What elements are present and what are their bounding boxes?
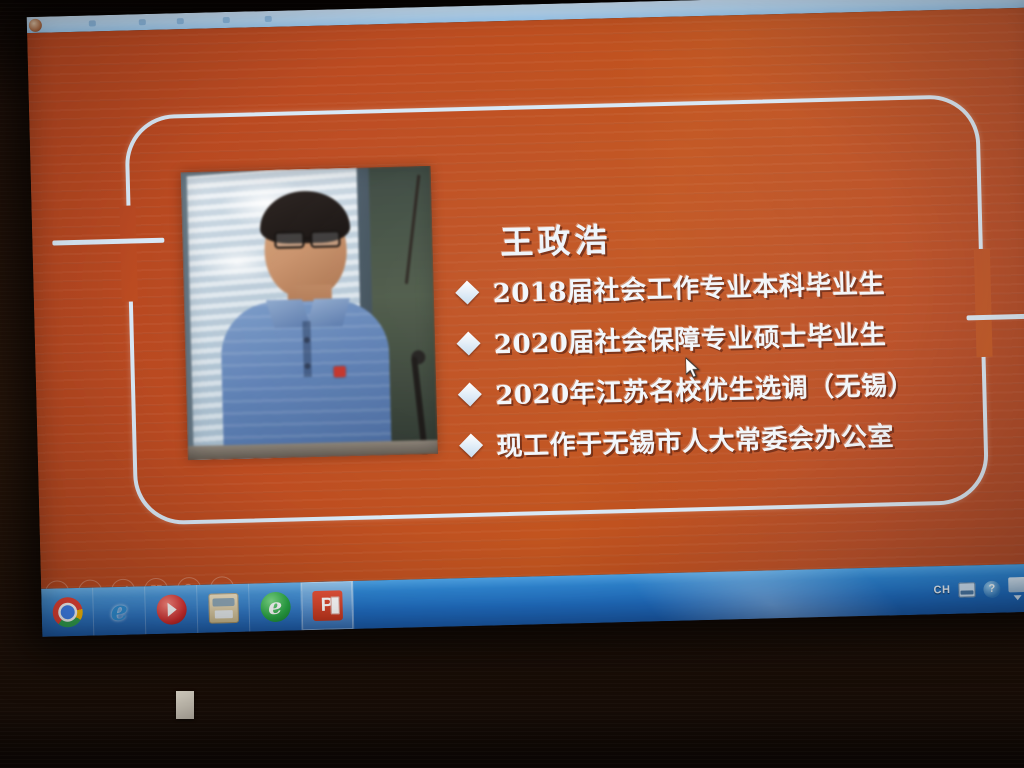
projection-screen: 王政浩 2018届社会工作专业本科毕业生 2020届社会保障专业硕士毕业生 20… (27, 0, 1024, 637)
bullet-text: 2020年江苏名校优生选调（无锡） (495, 364, 915, 412)
network-icon[interactable] (1008, 576, 1024, 591)
frame-gap-left (119, 205, 137, 301)
diamond-bullet-icon (457, 331, 481, 355)
powerpoint-icon: P (312, 590, 343, 621)
slide-title: 王政浩 (500, 213, 612, 264)
start-orb-icon[interactable] (29, 19, 42, 32)
photo-projection-blur (181, 166, 438, 460)
top-strip-dot (89, 20, 96, 26)
taskbar-item-chrome[interactable] (41, 588, 94, 637)
ime-indicator[interactable]: CH (933, 584, 950, 596)
media-player-icon (156, 594, 187, 625)
diamond-bullet-icon (458, 382, 482, 406)
taskbar-item-internet-explorer[interactable]: e (93, 586, 146, 635)
system-tray: CH ? (933, 563, 1024, 614)
folder-icon (208, 593, 239, 624)
screenshot-root: 王政浩 2018届社会工作专业本科毕业生 2020届社会保障专业硕士毕业生 20… (0, 0, 1024, 768)
keyboard-icon[interactable] (958, 582, 975, 597)
list-item: 2020年江苏名校优生选调（无锡） (461, 363, 1022, 411)
bullet-text: 2020届社会保障专业硕士毕业生 (494, 314, 887, 361)
taskbar-item-media-player[interactable] (145, 585, 198, 634)
ie-icon: e (104, 596, 135, 627)
powerpoint-slide[interactable]: 王政浩 2018届社会工作专业本科毕业生 2020届社会保障专业硕士毕业生 20… (27, 8, 1024, 589)
speaker-photo (181, 166, 438, 460)
slide-bullet-list: 2018届社会工作专业本科毕业生 2020届社会保障专业硕士毕业生 2020年江… (458, 261, 1023, 479)
light-switch[interactable] (176, 691, 194, 719)
green-browser-icon: e (260, 592, 291, 623)
projection-screen-wrapper: 王政浩 2018届社会工作专业本科毕业生 2020届社会保障专业硕士毕业生 20… (0, 0, 1024, 672)
taskbar-item-green-browser[interactable]: e (249, 582, 302, 631)
bullet-text: 现工作于无锡市人大常委会办公室 (496, 416, 894, 463)
diamond-bullet-icon (459, 433, 483, 457)
list-item: 2020届社会保障专业硕士毕业生 (460, 312, 1021, 360)
chevron-down-icon[interactable] (1013, 595, 1021, 600)
tray-overflow-group[interactable] (1008, 576, 1024, 599)
taskbar-item-powerpoint[interactable]: P (301, 581, 354, 630)
chrome-icon (52, 597, 83, 628)
taskbar-item-file-explorer[interactable] (197, 584, 250, 633)
taskbar-pinned-items: e e P (41, 581, 354, 637)
diamond-bullet-icon (455, 280, 479, 304)
top-strip-dot (139, 19, 146, 25)
top-strip-dot (177, 18, 184, 24)
help-icon[interactable]: ? (983, 580, 1000, 597)
top-strip-dot (223, 17, 230, 23)
top-strip-dot (265, 16, 272, 22)
list-item: 现工作于无锡市人大常委会办公室 (462, 414, 1023, 462)
